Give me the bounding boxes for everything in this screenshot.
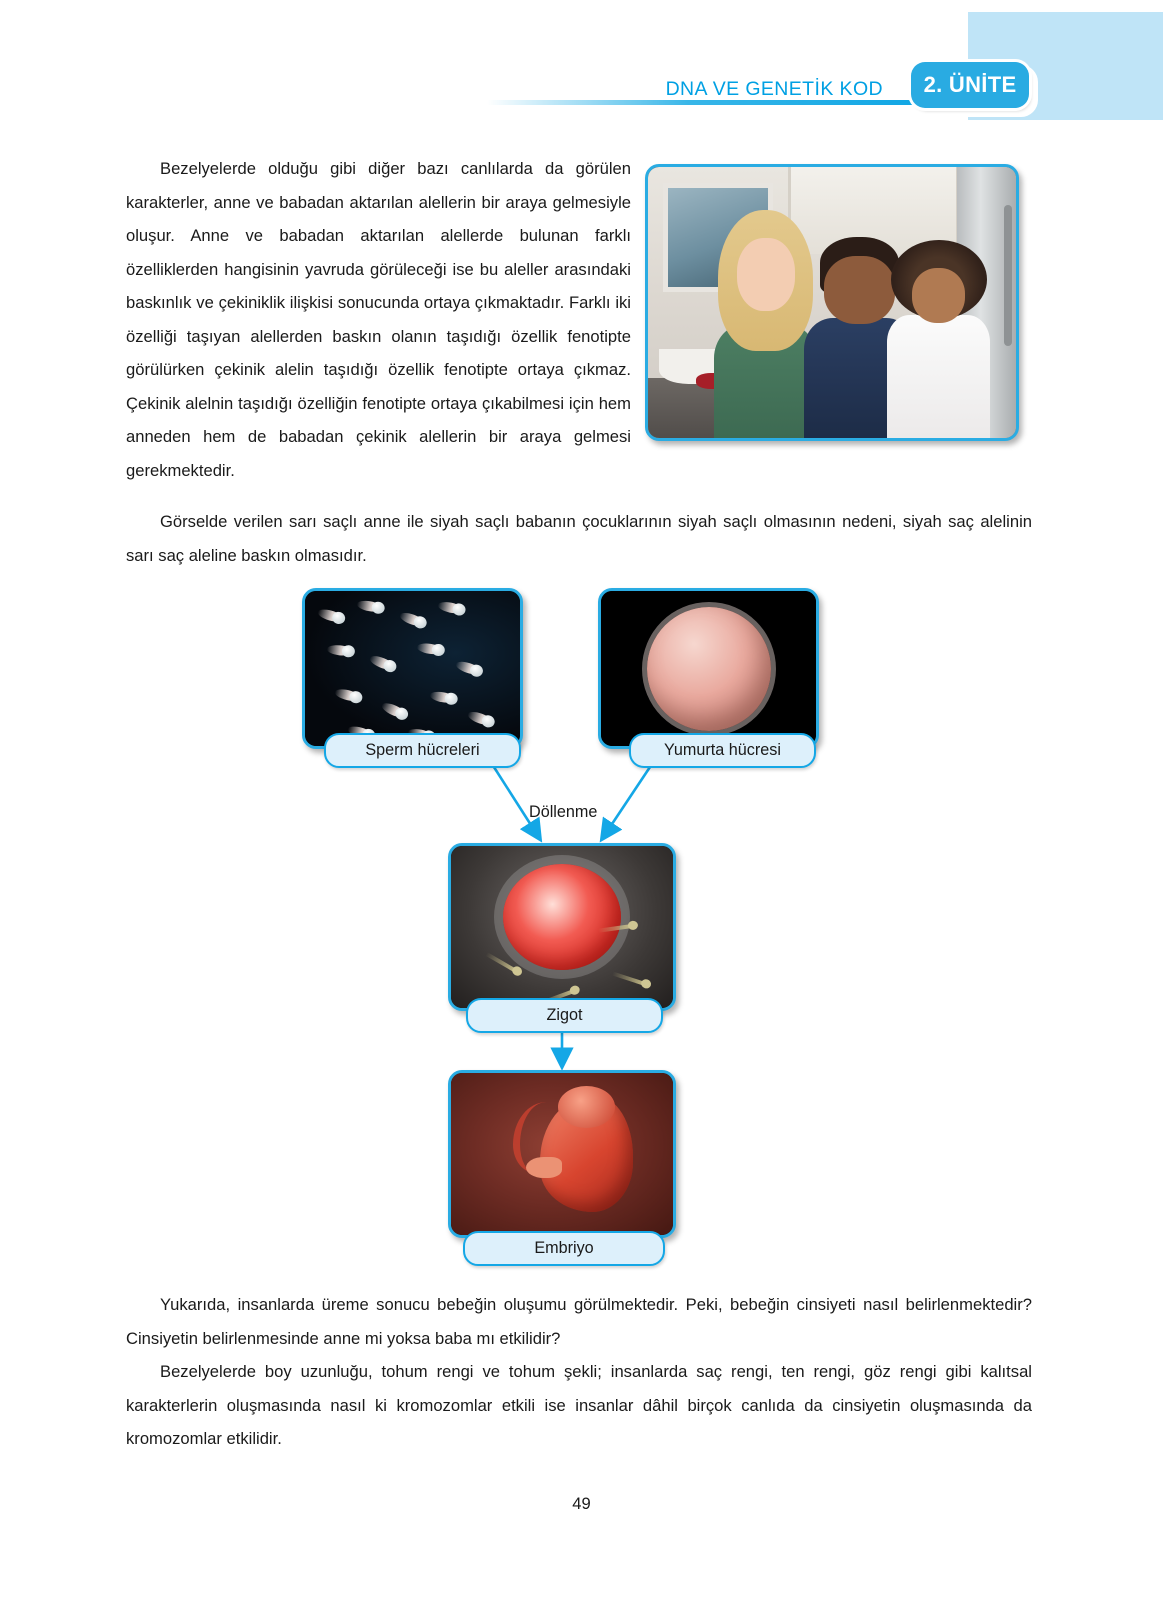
mother-figure (714, 210, 817, 438)
egg-cell-shape (647, 607, 771, 731)
page-number: 49 (0, 1494, 1163, 1514)
embryo-photo (448, 1070, 676, 1238)
label-egg-cell: Yumurta hücresi (629, 733, 816, 768)
paragraph-3: Yukarıda, insanlarda üreme sonucu bebeği… (126, 1288, 1032, 1355)
header-title: DNA VE GENETİK KOD (666, 78, 883, 101)
child-figure (891, 240, 987, 438)
unit-badge-container: 2. ÜNİTE (911, 62, 1029, 108)
paragraph-4-block: Bezelyelerde boy uzunluğu, tohum rengi v… (126, 1355, 1032, 1456)
label-embryo: Embriyo (463, 1231, 665, 1266)
paragraph-2-block: Görselde verilen sarı saçlı anne ile siy… (126, 505, 1032, 572)
fridge-handle-shape (1004, 205, 1012, 346)
zygote-photo (448, 843, 676, 1011)
label-fertilization: Döllenme (529, 803, 597, 822)
egg-cell-photo (598, 588, 819, 749)
father-face (824, 256, 896, 324)
zygote-cell-shape (503, 864, 621, 970)
unit-badge: 2. ÜNİTE (911, 62, 1029, 108)
paragraph-4: Bezelyelerde boy uzunluğu, tohum rengi v… (126, 1355, 1032, 1456)
child-body (887, 315, 990, 438)
label-sperm-cells: Sperm hücreleri (324, 733, 521, 768)
embryo-limb-shape (526, 1157, 562, 1178)
kitchen-background (648, 167, 1016, 438)
paragraph-1: Bezelyelerde olduğu gibi diğer bazı canl… (126, 152, 631, 487)
arrow-sperm-to-zygote (492, 764, 538, 836)
sperm-cells-photo (302, 588, 523, 749)
arrow-egg-to-zygote (604, 764, 652, 836)
label-zygote: Zigot (466, 998, 663, 1033)
family-photo (645, 164, 1019, 441)
page-header: DNA VE GENETİK KOD 2. ÜNİTE (0, 0, 1163, 135)
mother-face (737, 238, 795, 311)
paragraph-3-block: Yukarıda, insanlarda üreme sonucu bebeği… (126, 1288, 1032, 1355)
child-face (912, 268, 966, 323)
paragraph-2: Görselde verilen sarı saçlı anne ile siy… (126, 505, 1032, 572)
intro-paragraph-block: Bezelyelerde olduğu gibi diğer bazı canl… (126, 152, 631, 487)
embryo-head-shape (558, 1086, 616, 1128)
